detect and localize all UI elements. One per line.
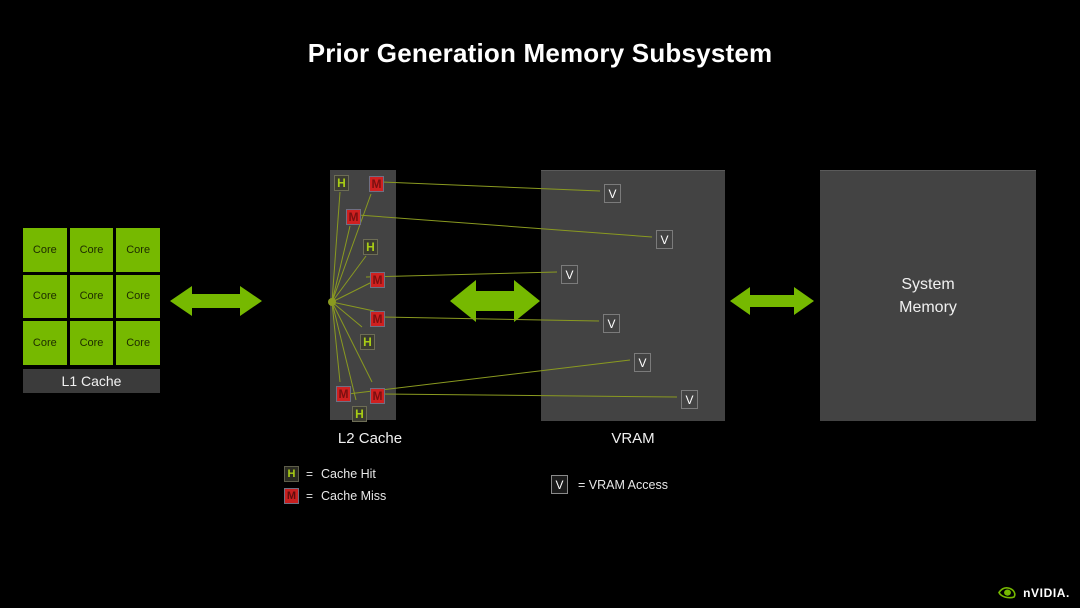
vram-access-icon: V [551,475,568,494]
legend-row-vram-access: V = VRAM Access [551,475,668,494]
legend-vram-label: = VRAM Access [578,478,668,492]
vram-access-marker: V [681,390,698,409]
l2-cache-block [330,170,396,420]
cache-hit-marker: H [352,406,367,422]
vram-block [541,170,725,421]
system-memory-label-line1: System [820,273,1036,296]
core-cell: Core [116,228,160,272]
vram-caption: VRAM [553,430,713,447]
cache-hit-marker: H [363,239,378,255]
cache-miss-icon: M [284,488,299,504]
page-title: Prior Generation Memory Subsystem [0,38,1080,69]
core-cell: Core [23,321,67,365]
l1-cache-bar: L1 Cache [23,369,160,393]
legend-row-cache-hit: H = Cache Hit [284,464,386,483]
legend-row-cache-miss: M = Cache Miss [284,486,386,505]
arrow-l2-to-vram-icon [450,277,540,325]
cache-miss-marker: M [369,176,384,192]
cache-miss-marker: M [370,388,385,404]
cache-miss-marker: M [370,272,385,288]
core-cell: Core [70,228,114,272]
system-memory-block: System Memory [820,170,1036,421]
vram-access-marker: V [561,265,578,284]
core-cell: Core [23,275,67,319]
core-cell: Core [70,275,114,319]
arrow-vram-to-sysmem-icon [730,285,814,317]
core-grid: Core Core Core Core Core Core Core Core … [23,228,160,365]
vram-access-marker: V [604,184,621,203]
core-cell: Core [116,275,160,319]
core-cell: Core [116,321,160,365]
nvidia-eye-icon [997,585,1019,600]
cache-miss-marker: M [370,311,385,327]
cache-hit-marker: H [334,175,349,191]
vram-access-marker: V [634,353,651,372]
cache-miss-marker: M [336,386,351,402]
legend: H = Cache Hit M = Cache Miss [284,464,386,508]
l2-cache-caption: L2 Cache [290,430,450,447]
nvidia-wordmark: nVIDIA. [1023,586,1070,600]
vram-access-marker: V [603,314,620,333]
system-memory-label-line2: Memory [820,296,1036,319]
core-cell: Core [23,228,67,272]
cache-hit-marker: H [360,334,375,350]
legend-miss-label: Cache Miss [321,489,386,503]
slide-canvas: Prior Generation Memory Subsystem Core C… [0,0,1080,608]
core-cell: Core [70,321,114,365]
cache-hit-icon: H [284,466,299,482]
sm-core-block: Core Core Core Core Core Core Core Core … [23,228,160,393]
legend-hit-label: Cache Hit [321,467,376,481]
arrow-cores-to-l2-icon [170,283,262,319]
vram-access-marker: V [656,230,673,249]
cache-miss-marker: M [346,209,361,225]
nvidia-logo: nVIDIA. [997,585,1070,600]
legend-miss-equals: = [306,489,313,503]
legend-hit-equals: = [306,467,313,481]
system-memory-label: System Memory [820,273,1036,319]
